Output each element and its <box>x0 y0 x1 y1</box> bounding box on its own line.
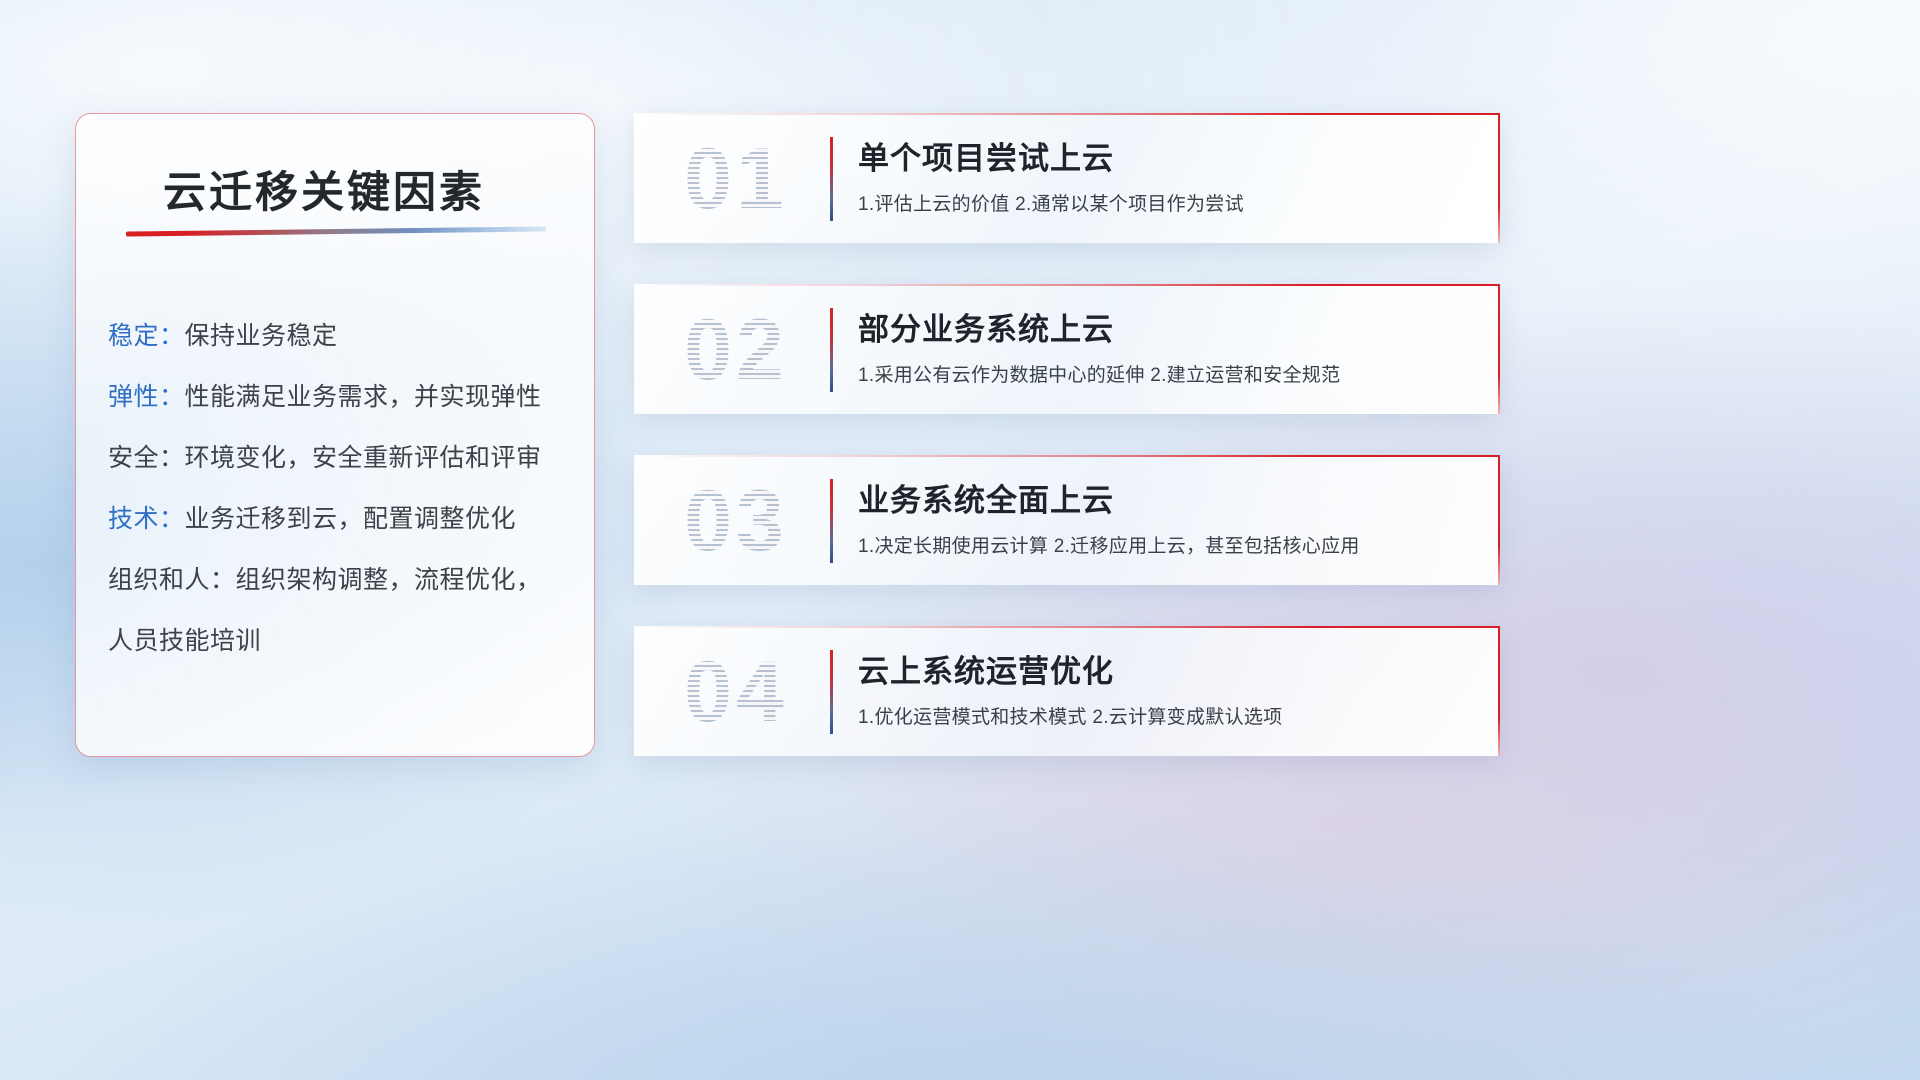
key-factor-label: 弹性： <box>108 383 185 411</box>
stage-card[interactable]: 0202部分业务系统上云1.采用公有云作为数据中心的延伸 2.建立运营和安全规范 <box>634 284 1500 414</box>
stage-number: 01 <box>656 127 816 231</box>
title-underline-rule <box>126 226 546 236</box>
stage-card[interactable]: 0303业务系统全面上云1.决定长期使用云计算 2.迁移应用上云，甚至包括核心应… <box>634 455 1500 585</box>
key-factor-text: 业务迁移到云，配置调整优化 <box>185 505 517 533</box>
card-divider-bar <box>830 479 833 563</box>
card-top-accent-line <box>634 626 1500 628</box>
stage-number: 02 <box>656 298 816 402</box>
card-right-accent-line <box>1498 455 1500 585</box>
card-top-accent-line <box>634 284 1500 286</box>
stage-card[interactable]: 0101单个项目尝试上云1.评估上云的价值 2.通常以某个项目作为尝试 <box>634 113 1500 243</box>
card-divider-bar <box>830 308 833 392</box>
key-factor-item: 弹性：性能满足业务需求，并实现弹性 <box>108 367 578 428</box>
key-factor-item: 组织和人：组织架构调整，流程优化， <box>108 550 578 611</box>
key-factor-text: 保持业务稳定 <box>185 322 338 350</box>
stage-title: 单个项目尝试上云 <box>858 133 1114 178</box>
key-factor-label: 技术： <box>108 505 185 533</box>
stage-description: 1.优化运营模式和技术模式 2.云计算变成默认选项 <box>858 702 1282 729</box>
key-factor-label: 安全： <box>108 444 185 472</box>
key-factors-panel: 云迁移关键因素 稳定：保持业务稳定弹性：性能满足业务需求，并实现弹性安全：环境变… <box>75 113 595 757</box>
card-divider-bar <box>830 137 833 221</box>
key-factor-item: 安全：环境变化，安全重新评估和评审 <box>108 428 578 489</box>
page-title: 云迁移关键因素 <box>163 158 485 220</box>
stage-title: 业务系统全面上云 <box>858 475 1114 520</box>
key-factor-item: 技术：业务迁移到云，配置调整优化 <box>108 489 578 550</box>
card-right-accent-line <box>1498 113 1500 243</box>
migration-stages-list: 0101单个项目尝试上云1.评估上云的价值 2.通常以某个项目作为尝试0202部… <box>634 113 1500 797</box>
key-factor-text: 人员技能培训 <box>108 627 261 655</box>
stage-title: 部分业务系统上云 <box>858 304 1114 349</box>
key-factor-label: 组织和人： <box>108 566 236 594</box>
key-factor-item: 人员技能培训 <box>108 611 578 672</box>
stage-card[interactable]: 0404云上系统运营优化1.优化运营模式和技术模式 2.云计算变成默认选项 <box>634 626 1500 756</box>
key-factor-text: 环境变化，安全重新评估和评审 <box>185 444 542 472</box>
card-divider-bar <box>830 650 833 734</box>
card-top-accent-line <box>634 455 1500 457</box>
key-factor-label: 稳定： <box>108 322 185 350</box>
card-right-accent-line <box>1498 626 1500 756</box>
stage-number: 03 <box>656 469 816 573</box>
key-factor-item: 稳定：保持业务稳定 <box>108 306 578 367</box>
key-factor-text: 性能满足业务需求，并实现弹性 <box>185 383 542 411</box>
key-factors-list: 稳定：保持业务稳定弹性：性能满足业务需求，并实现弹性安全：环境变化，安全重新评估… <box>108 306 578 672</box>
stage-description: 1.采用公有云作为数据中心的延伸 2.建立运营和安全规范 <box>858 360 1340 387</box>
stage-description: 1.评估上云的价值 2.通常以某个项目作为尝试 <box>858 189 1244 216</box>
card-top-accent-line <box>634 113 1500 115</box>
stage-number: 04 <box>656 640 816 744</box>
key-factor-text: 组织架构调整，流程优化， <box>236 566 542 594</box>
stage-title: 云上系统运营优化 <box>858 646 1114 691</box>
card-right-accent-line <box>1498 284 1500 414</box>
stage-description: 1.决定长期使用云计算 2.迁移应用上云，甚至包括核心应用 <box>858 531 1360 558</box>
